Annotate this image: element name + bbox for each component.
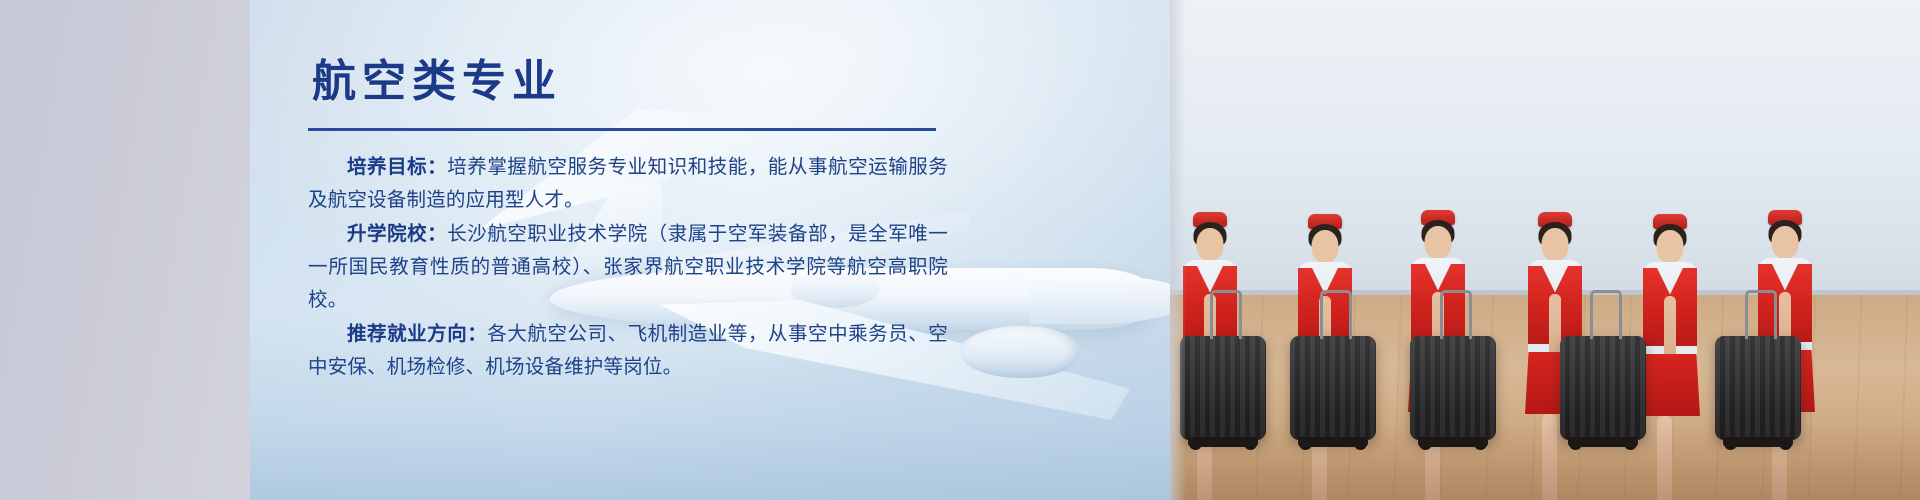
body-text: 培养目标：培养掌握航空服务专业知识和技能，能从事航空运输服务及航空设备制造的应用… (308, 151, 948, 384)
photo-bottom-shadow (1170, 420, 1920, 500)
crew-head (1657, 230, 1684, 263)
aviation-major-banner: 航空类专业 培养目标：培养掌握航空服务专业知识和技能，能从事航空运输服务及航空设… (0, 0, 1920, 500)
left-gutter-strip (0, 0, 250, 500)
left-info-panel: 航空类专业 培养目标：培养掌握航空服务专业知识和技能，能从事航空运输服务及航空设… (250, 0, 1170, 500)
flight-attendant-crew-photo (1170, 0, 1920, 500)
paragraph-label-employment: 推荐就业方向： (347, 323, 487, 345)
photo-left-edge-fade (1170, 0, 1186, 500)
paragraph-training-goal: 培养目标：培养掌握航空服务专业知识和技能，能从事航空运输服务及航空设备制造的应用… (308, 151, 948, 217)
crew-head (1312, 230, 1339, 263)
text-content-block: 航空类专业 培养目标：培养掌握航空服务专业知识和技能，能从事航空运输服务及航空设… (250, 0, 1170, 500)
title-divider (308, 128, 936, 131)
paragraph-label-training-goal: 培养目标： (347, 156, 447, 178)
crew-head (1772, 226, 1799, 259)
paragraph-further-study: 升学院校：长沙航空职业技术学院（隶属于空军装备部，是全军唯一一所国民教育性质的普… (308, 218, 948, 317)
page-title: 航空类专业 (312, 58, 1130, 106)
crew-head (1197, 228, 1224, 261)
crew-head (1542, 228, 1569, 261)
paragraph-employment: 推荐就业方向：各大航空公司、飞机制造业等，从事空中乘务员、空中安保、机场检修、机… (308, 318, 948, 384)
crew-head (1425, 226, 1452, 259)
crew-skirt (1640, 354, 1700, 416)
paragraph-label-further-study: 升学院校： (347, 223, 447, 245)
